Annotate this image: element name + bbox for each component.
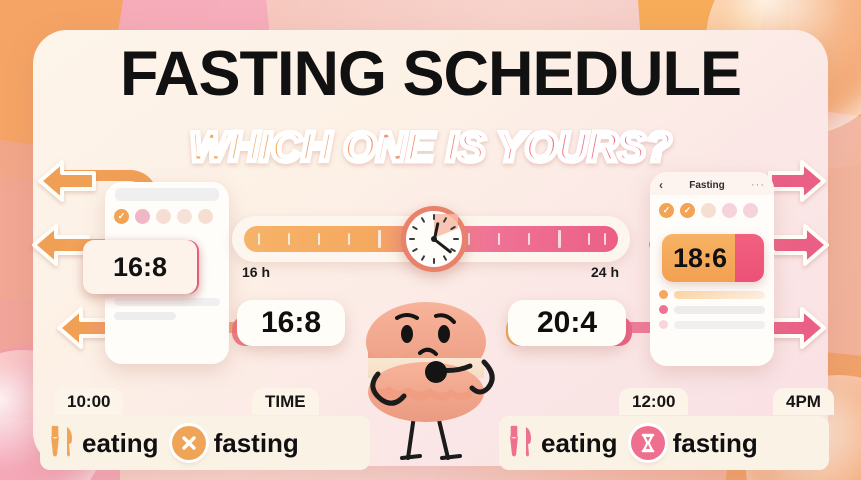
analog-clock-icon bbox=[401, 206, 467, 272]
progress-dot-3 bbox=[156, 209, 171, 224]
phone-right-list bbox=[650, 284, 774, 329]
infographic-canvas: FASTING SCHEDULE WHICH ONE IS YOURS? bbox=[0, 0, 861, 480]
clock-center-pivot bbox=[431, 236, 437, 242]
fork-knife-icon bbox=[48, 425, 74, 462]
fork-knife-icon bbox=[507, 425, 533, 462]
phone-left-list bbox=[105, 292, 229, 320]
progress-dot-5 bbox=[743, 203, 758, 218]
legend-fasting-label-left: fasting bbox=[214, 428, 299, 459]
schedule-pill-20-4: 20:4 bbox=[508, 300, 626, 346]
legend-right-body: eating fasting bbox=[499, 416, 829, 470]
arrow-left-1 bbox=[36, 158, 98, 204]
timeline-label-left: 16 h bbox=[242, 264, 270, 280]
more-options-icon[interactable]: ··· bbox=[751, 180, 765, 191]
legend-item-eating-left: eating bbox=[48, 425, 159, 462]
progress-dot-5 bbox=[198, 209, 213, 224]
phone-card-right[interactable]: ‹ Fasting ··· ✓ ✓ 18:6 bbox=[650, 172, 774, 366]
schedule-badge-right: 18:6 bbox=[662, 234, 764, 282]
list-item bbox=[659, 320, 765, 329]
arrow-right-1 bbox=[766, 158, 828, 204]
x-circle-icon bbox=[172, 426, 206, 460]
phone-right-header: ‹ Fasting ··· bbox=[650, 172, 774, 195]
legend-item-fasting-right: fasting bbox=[631, 426, 758, 460]
phone-right-badge: 18:6 bbox=[662, 234, 764, 282]
legend-right: 12:00 4PM eating bbox=[499, 388, 829, 470]
legend-item-fasting-left: fasting bbox=[172, 426, 299, 460]
legend-item-eating-right: eating bbox=[507, 425, 618, 462]
list-item bbox=[659, 290, 765, 299]
phone-screen-title: Fasting bbox=[689, 180, 725, 191]
progress-dot-4 bbox=[177, 209, 192, 224]
legend-eating-label-left: eating bbox=[82, 428, 159, 459]
macaron-character bbox=[352, 296, 508, 464]
list-item bbox=[114, 312, 220, 320]
progress-dot-4 bbox=[722, 203, 737, 218]
progress-dot-checked: ✓ bbox=[114, 209, 129, 224]
phone-left-status-bar bbox=[115, 188, 219, 201]
progress-dot-checked: ✓ bbox=[659, 203, 674, 218]
hourglass-circle-icon bbox=[631, 426, 665, 460]
progress-dot-3 bbox=[701, 203, 716, 218]
legend-right-time-start: 12:00 bbox=[619, 388, 688, 415]
back-chevron-icon[interactable]: ‹ bbox=[659, 179, 663, 191]
legend-left-body: eating fasting bbox=[40, 416, 370, 470]
legend-fasting-label-right: fasting bbox=[673, 428, 758, 459]
phone-right-progress-dots: ✓ ✓ bbox=[650, 195, 774, 224]
legend-left-time-start: 10:00 bbox=[54, 388, 123, 415]
page-subtitle: WHICH ONE IS YOURS? bbox=[0, 126, 861, 168]
list-item bbox=[114, 298, 220, 306]
legend-left-time-label: TIME bbox=[252, 388, 319, 415]
schedule-badge-left: 16:8 bbox=[83, 240, 197, 294]
legend-left: 10:00 TIME eating fast bbox=[40, 388, 370, 470]
page-title: FASTING SCHEDULE bbox=[0, 43, 861, 106]
legend-eating-label-right: eating bbox=[541, 428, 618, 459]
progress-dot-checked-2: ✓ bbox=[680, 203, 695, 218]
progress-dot-2 bbox=[135, 209, 150, 224]
legend-right-time-end: 4PM bbox=[773, 388, 834, 415]
schedule-pill-16-8: 16:8 bbox=[237, 300, 345, 346]
timeline-label-right: 24 h bbox=[591, 264, 619, 280]
list-item bbox=[659, 305, 765, 314]
phone-left-progress-dots: ✓ bbox=[105, 201, 229, 230]
